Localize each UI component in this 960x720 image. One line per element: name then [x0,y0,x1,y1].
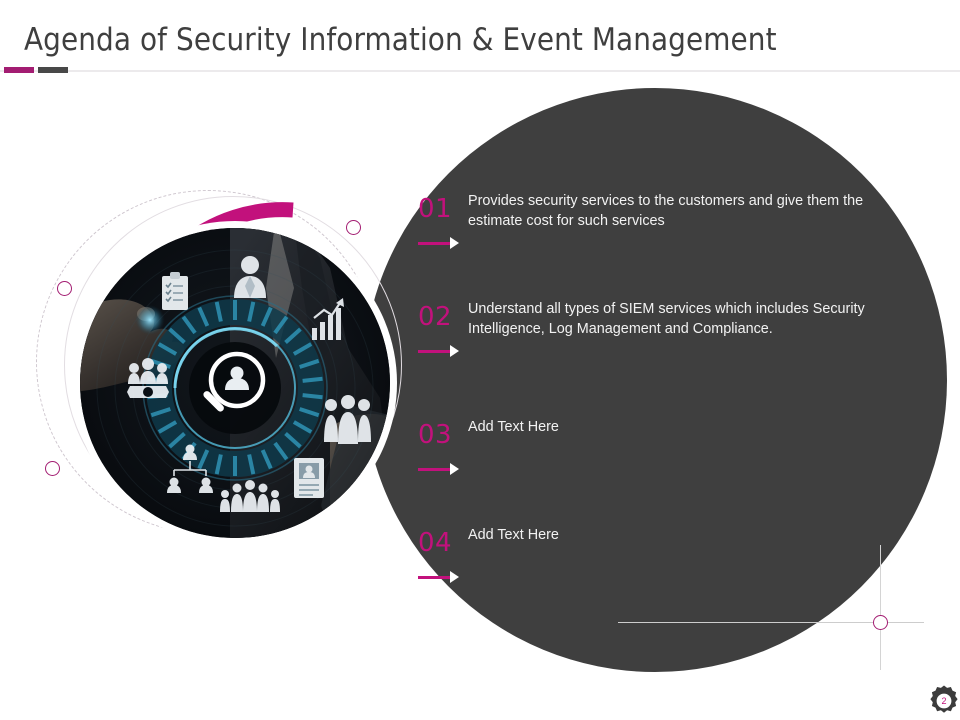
agenda-item-text: Add Text Here [468,418,918,438]
page-number-text: 2 [927,684,960,718]
agenda-item-text: Add Text Here [468,526,918,546]
accent-bar-magenta [4,67,34,73]
arrow-right-icon [450,237,459,249]
ring-marker-bottom-left [45,461,60,476]
agenda-item-3[interactable]: 03 Add Text Here [418,420,918,490]
agenda-item-text: Provides security services to the custom… [468,192,918,231]
agenda-item-rule [418,242,450,245]
crosshair-vertical-line [880,545,881,670]
agenda-item-number: 02 [418,302,452,332]
agenda-item-number: 03 [418,420,452,450]
ring-marker-left [57,281,72,296]
accent-bar-dark [38,67,68,73]
agenda-item-number: 01 [418,194,452,224]
slide-canvas: Agenda of Security Information & Event M… [0,0,960,720]
arrow-right-icon [450,571,459,583]
clipboard-checklist-icon [162,272,188,310]
id-card-icon [294,458,324,498]
agenda-item-rule [418,350,450,353]
crosshair-ring-marker [873,615,888,630]
slide-header: Agenda of Security Information & Event M… [0,0,960,72]
people-gear-icon [127,358,169,398]
agenda-item-text: Understand all types of SIEM services wh… [468,300,918,339]
hud-illustration [80,228,390,538]
page-title: Agenda of Security Information & Event M… [24,22,777,58]
people-group-icon [324,395,371,444]
ring-marker-top-right [346,220,361,235]
agenda-item-1[interactable]: 01 Provides security services to the cus… [418,194,918,264]
agenda-item-4[interactable]: 04 Add Text Here [418,528,918,598]
agenda-item-number: 04 [418,528,452,558]
page-number-badge: 2 [927,684,960,718]
arrow-right-icon [450,463,459,475]
header-divider [0,70,960,72]
left-graphic-cluster [28,178,408,578]
agenda-item-rule [418,576,450,579]
agenda-item-2[interactable]: 02 Understand all types of SIEM services… [418,302,918,372]
cybersecurity-photo [80,228,390,538]
arrow-right-icon [450,345,459,357]
agenda-item-rule [418,468,450,471]
